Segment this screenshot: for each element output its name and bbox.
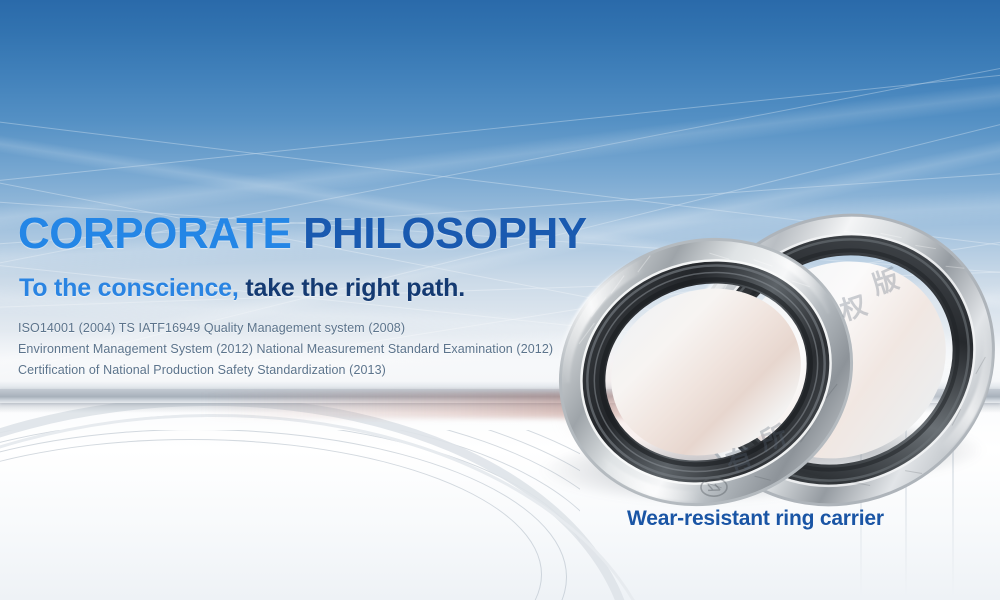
product-caption: Wear-resistant ring carrier xyxy=(627,507,884,531)
page-title: CORPORATE PHILOSOPHY xyxy=(18,212,587,256)
headline-word-philosophy: PHILOSOPHY xyxy=(303,209,587,258)
headline-word-corporate: CORPORATE xyxy=(18,209,291,258)
subtitle-part-right-path: take the right path. xyxy=(245,274,465,302)
subtitle-part-conscience: To the conscience, xyxy=(19,274,239,302)
certification-line: Environment Management System (2012) Nat… xyxy=(18,339,618,360)
certification-line: Certification of National Production Saf… xyxy=(18,360,618,381)
certification-line: ISO14001 (2004) TS IATF16949 Quality Man… xyxy=(18,318,618,339)
certification-list: ISO14001 (2004) TS IATF16949 Quality Man… xyxy=(18,318,618,381)
corporate-philosophy-banner: 版 权 所 有 CORPORATE PHILOSOPHY To the cons… xyxy=(0,0,1000,600)
page-subtitle: To the conscience, take the right path. xyxy=(19,276,465,301)
